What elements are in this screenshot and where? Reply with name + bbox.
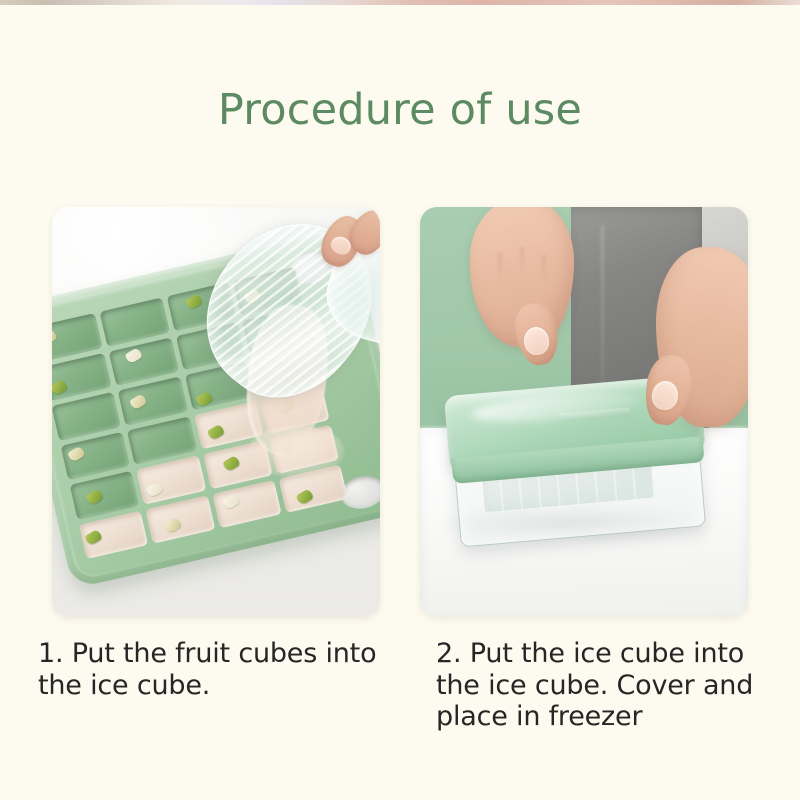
step-1-photo-card — [52, 207, 380, 617]
left-hand — [464, 207, 588, 409]
right-hand — [646, 247, 748, 497]
knuckle-line — [542, 255, 546, 283]
knuckle-line — [498, 253, 502, 281]
page-title: Procedure of use — [0, 88, 800, 133]
knuckle-line — [520, 247, 524, 275]
step-1-caption: 1. Put the fruit cubes into the ice cube… — [38, 638, 390, 701]
step-2-photo — [420, 207, 748, 617]
top-image-sliver — [0, 0, 800, 5]
step-1-photo — [52, 207, 380, 617]
step-2-photo-card — [420, 207, 748, 617]
step-2-caption: 2. Put the ice cube into the ice cube. C… — [436, 638, 766, 733]
